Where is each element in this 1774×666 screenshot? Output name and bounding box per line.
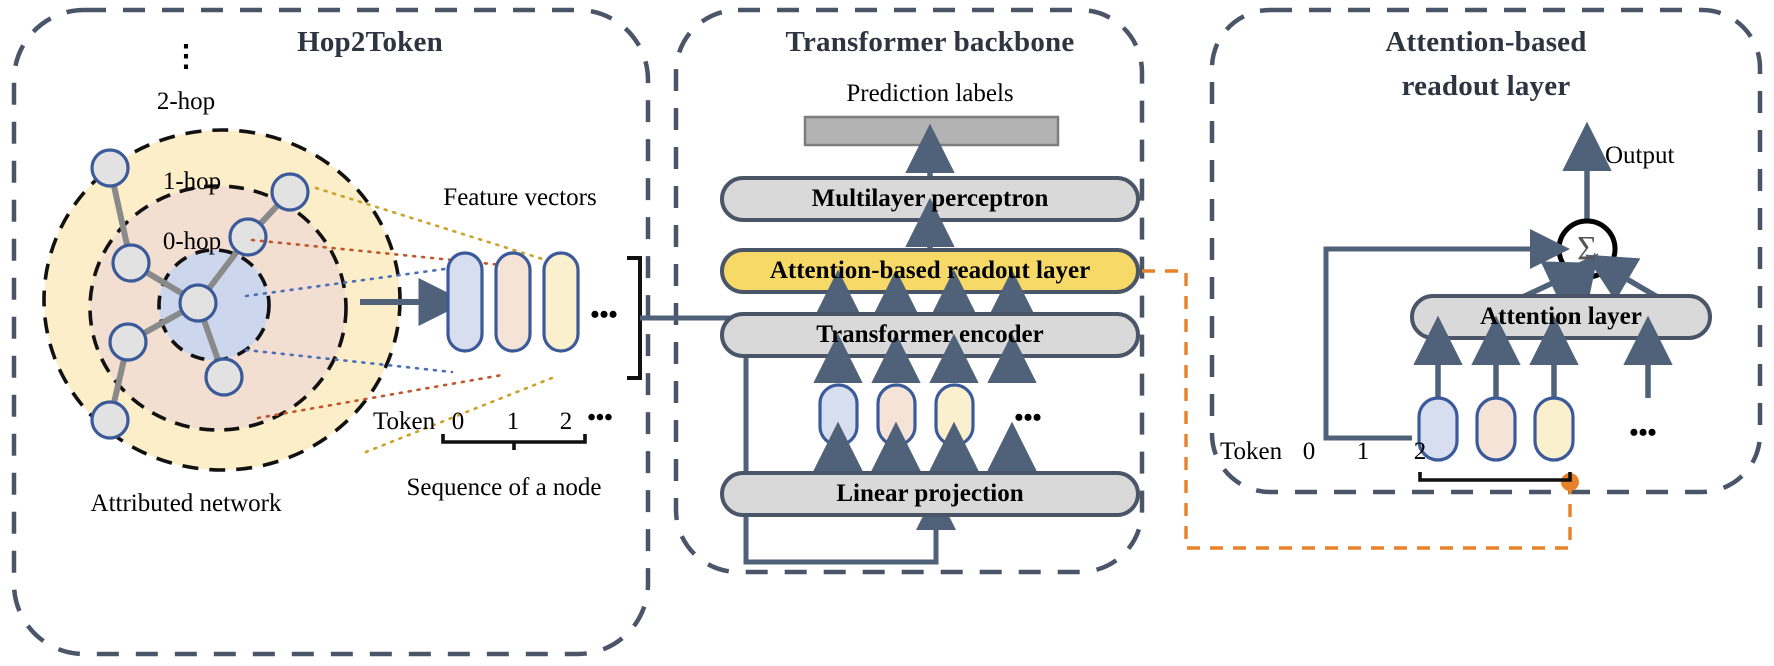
graph-node (272, 174, 308, 210)
block-label-linear-projection[interactable]: Linear projection (836, 480, 1023, 508)
graph-node (92, 402, 128, 438)
right-pills-ellipsis: ••• (1629, 418, 1656, 448)
feature-vectors-label: Feature vectors (443, 184, 596, 212)
token-index-1: 1 (1357, 438, 1370, 466)
token-pill-2 (1535, 398, 1573, 460)
token-index-2: 2 (1414, 438, 1427, 466)
panel-title-transformer-backbone: Transformer backbone (786, 26, 1075, 59)
right-token-index-bracket (1420, 472, 1570, 480)
block-label-attention-layer[interactable]: Attention layer (1480, 303, 1642, 331)
graph-node (206, 359, 242, 395)
panel-title-hop2token: Hop2Token (297, 26, 443, 59)
tokens-to-encoder-arrows (838, 360, 1012, 383)
token-ellipsis-left: ••• (587, 405, 612, 432)
token-label-left: Token (373, 408, 435, 436)
token-pill-1 (1477, 398, 1515, 460)
token-pill-2 (936, 385, 973, 445)
right-tokens-to-attention-arrows (1438, 342, 1648, 398)
sequence-bracket (627, 258, 640, 378)
graph-node (230, 219, 266, 255)
token-pill-2 (544, 253, 578, 351)
hop-label-2hop: 2-hop (157, 88, 215, 116)
panel-title-readout-line1: Attention-based (1385, 26, 1586, 59)
sequence-caption: Sequence of a node (406, 474, 601, 502)
graph-node (92, 150, 128, 186)
figure-root: Hop2Token ⋮ 2-hop 1-hop 0-hop Attributed… (0, 0, 1774, 666)
panel-title-readout-line2: readout layer (1402, 70, 1571, 103)
token-index-0: 0 (452, 408, 465, 436)
vertical-dots-icon: ⋮ (171, 48, 201, 67)
graph-node (113, 245, 149, 281)
output-label: Output (1605, 142, 1674, 170)
block-label-multilayer-perceptron[interactable]: Multilayer perceptron (812, 185, 1049, 213)
prediction-bar (805, 117, 1058, 145)
middle-token-pills (820, 385, 973, 445)
graph-node (110, 324, 146, 360)
token-label-right: Token (1220, 438, 1282, 466)
graph-node-center (180, 285, 216, 321)
block-label-transformer-encoder[interactable]: Transformer encoder (816, 321, 1043, 349)
block-label-attention-readout[interactable]: Attention-based readout layer (770, 257, 1090, 285)
right-token-pills (1419, 398, 1573, 460)
network-caption: Attributed network (91, 490, 282, 518)
token-index-2: 2 (560, 408, 573, 436)
middle-pills-ellipsis: ••• (1014, 403, 1041, 433)
left-token-pills (448, 253, 578, 351)
hop-label-0hop: 0-hop (163, 228, 221, 256)
pills-ellipsis-left: ••• (590, 300, 617, 330)
token-pill-0 (448, 253, 482, 351)
token-pill-1 (496, 253, 530, 351)
sum-symbol: Σ (1577, 230, 1597, 268)
hop-label-1hop: 1-hop (163, 168, 221, 196)
prediction-labels-caption: Prediction labels (846, 80, 1013, 108)
token-index-0: 0 (1303, 438, 1316, 466)
token-index-1: 1 (507, 408, 520, 436)
token-pill-0 (820, 385, 857, 445)
token-pill-1 (878, 385, 915, 445)
linear-to-tokens-arrows (838, 448, 1012, 472)
